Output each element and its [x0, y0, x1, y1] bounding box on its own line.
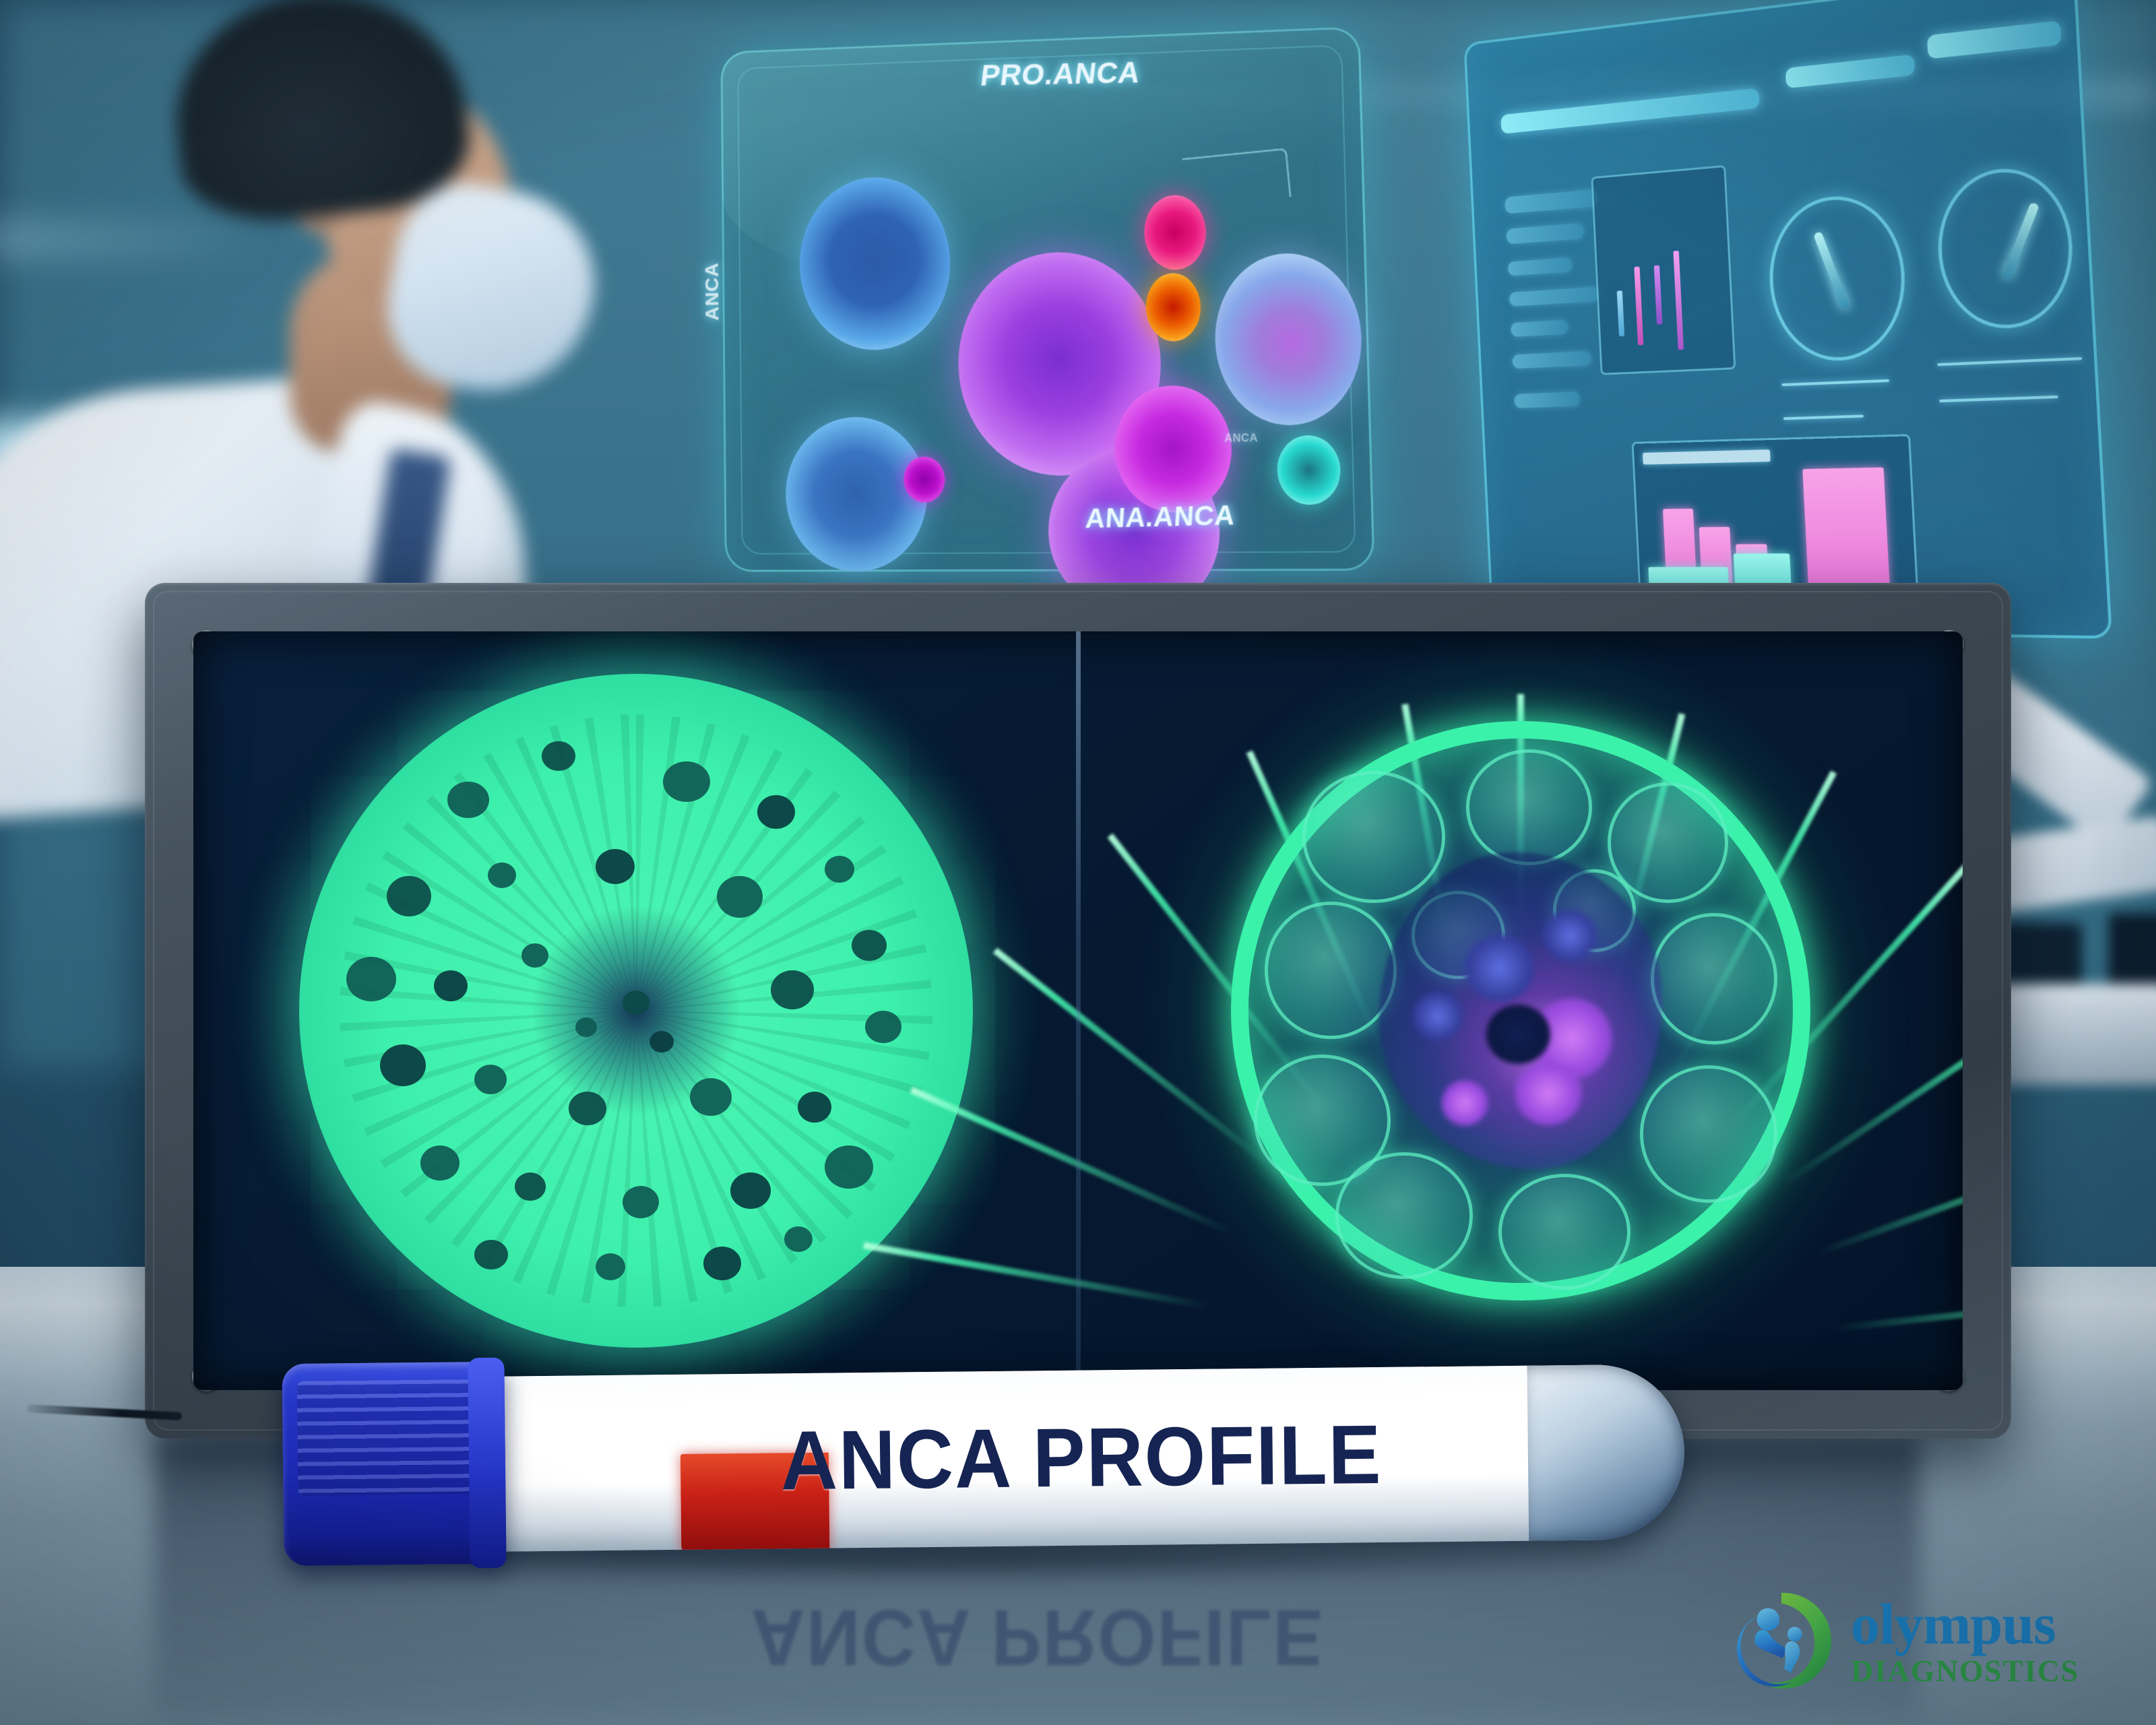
holo-side-label: ANCA: [701, 262, 724, 321]
brand-tagline: DIAGNOSTICS: [1851, 1656, 2079, 1687]
tube-cap[interactable]: [282, 1362, 506, 1566]
panca-nucleus-cluster: [1379, 852, 1662, 1169]
monitor-screen[interactable]: [193, 631, 1963, 1390]
tube-label-reflection: ANCA PROFILE: [512, 1570, 1563, 1705]
olympus-logo-mark: [1728, 1588, 1835, 1694]
holo-tiny-label: ANCA: [1224, 433, 1258, 445]
holographic-cell-panel: PRO.ANCA ANA.ANCA ANCA ANCA: [720, 26, 1374, 572]
brand-logo[interactable]: olympus DIAGNOSTICS: [1728, 1570, 2132, 1712]
tube-rounded-tip: [1527, 1364, 1686, 1540]
holographic-dashboard-panel: [1463, 0, 2112, 639]
scene-root: PRO.ANCA ANA.ANCA ANCA ANCA: [0, 0, 2156, 1725]
holo-platelet-magenta-1: [903, 456, 945, 503]
blood-collection-tube[interactable]: ANCA PROFILE: [282, 1364, 1706, 1561]
cap-flange: [468, 1358, 506, 1569]
holo-top-label: PRO.ANCA: [978, 57, 1142, 93]
panel-canca-cytoplasmic[interactable]: [193, 631, 1078, 1390]
dash-bar-8: [1511, 320, 1568, 338]
dash-bar-chart-widget: [1632, 434, 1920, 605]
holo-bottom-label: ANA.ANCA: [1084, 501, 1236, 535]
brand-name: olympus: [1851, 1595, 2079, 1653]
tube-label-text: ANCA PROFILE: [513, 1365, 1649, 1552]
screen-split-divider: [1076, 631, 1081, 1390]
tube-glass-body: ANCA PROFILE: [478, 1364, 1686, 1552]
dash-bar-10: [1514, 391, 1580, 408]
dash-scatter-widget: [1591, 165, 1736, 375]
holo-callout-bracket: [1182, 148, 1292, 207]
panel-panca-perinuclear[interactable]: [1078, 631, 1963, 1390]
dual-microscopy-monitor[interactable]: [145, 583, 2011, 1439]
brand-wordmark: olympus DIAGNOSTICS: [1851, 1595, 2079, 1687]
cap-ribbing: [297, 1379, 480, 1496]
panca-fluorescence-field: [1197, 687, 1844, 1334]
panca-cell-membrane: [1231, 721, 1810, 1300]
